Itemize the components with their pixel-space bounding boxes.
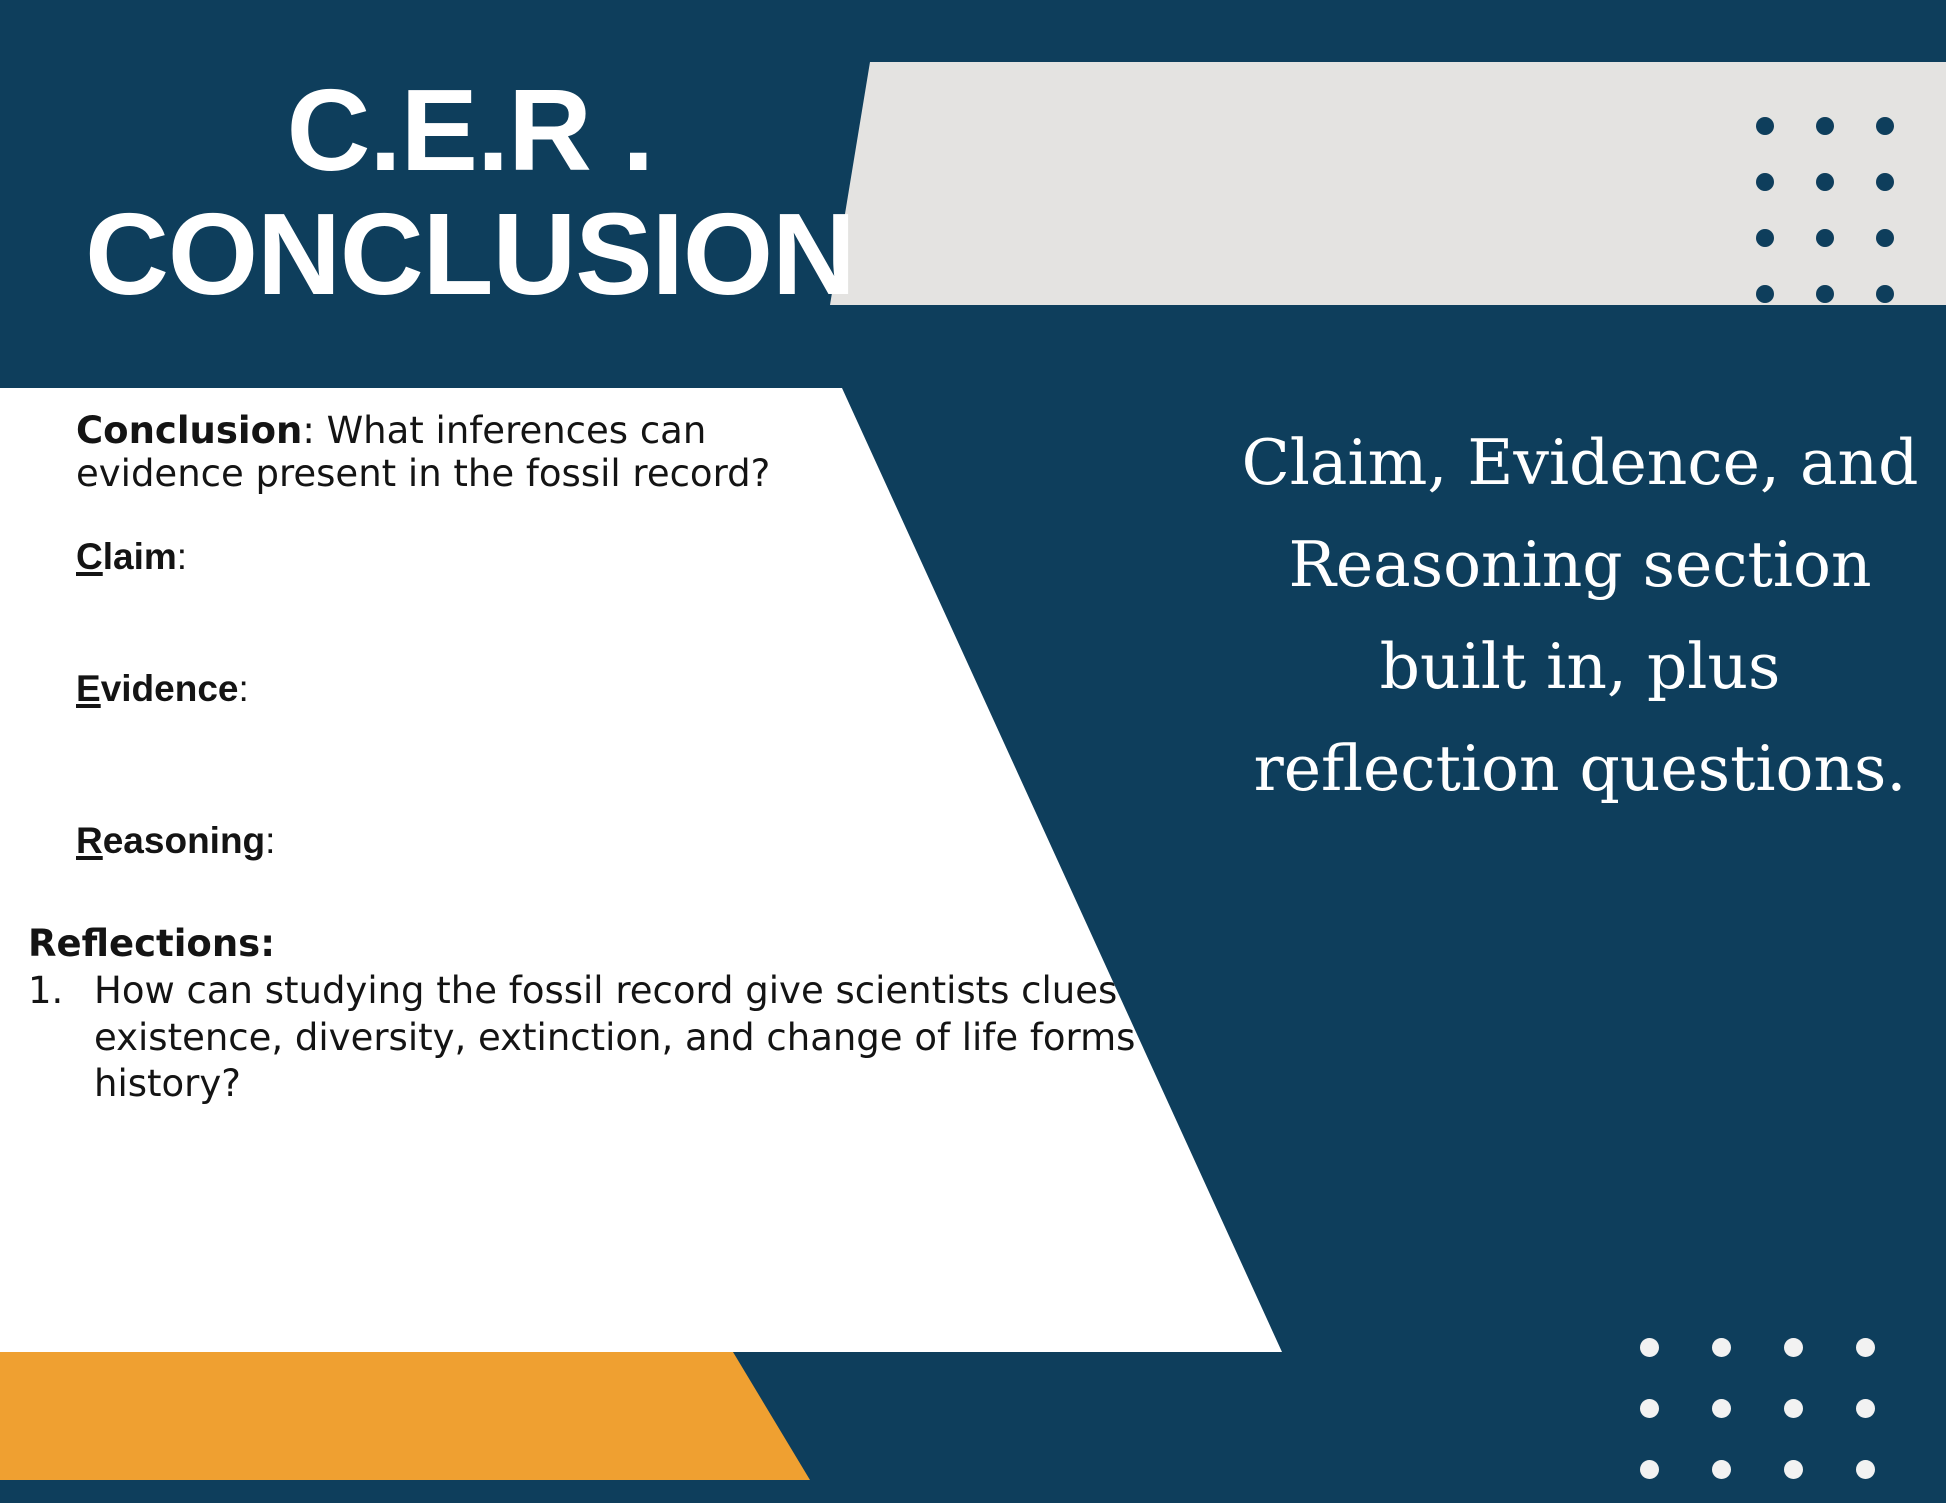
worksheet-reasoning-initial: R <box>76 820 103 861</box>
worksheet-conclusion-question-1: What inferences can <box>327 409 707 452</box>
dot <box>1876 117 1894 135</box>
worksheet-reflection-text: How can studying the fossil record give … <box>94 968 1288 1108</box>
worksheet-evidence-colon: : <box>238 668 248 709</box>
worksheet-evidence-rest: vidence <box>101 668 239 709</box>
worksheet-evidence-initial: E <box>76 668 101 709</box>
dot <box>1816 285 1834 303</box>
dot <box>1856 1460 1875 1479</box>
dot <box>1712 1338 1731 1357</box>
worksheet-reasoning-colon: : <box>265 820 275 861</box>
dot <box>1756 117 1774 135</box>
slide-canvas: C.E.R . CONCLUSION Conclusion: What infe… <box>0 0 1946 1503</box>
dot-grid-top-right <box>1756 117 1936 341</box>
worksheet-reflection-item-1: 1. How can studying the fossil record gi… <box>28 968 1288 1108</box>
dot <box>1816 173 1834 191</box>
dot <box>1784 1460 1803 1479</box>
dot <box>1756 173 1774 191</box>
dot <box>1876 229 1894 247</box>
worksheet-claim-initial: C <box>76 536 103 577</box>
dot <box>1712 1460 1731 1479</box>
dot <box>1876 173 1894 191</box>
caption-text: Claim, Evidence, and Reasoning section b… <box>1235 412 1925 820</box>
orange-accent-bar <box>0 1352 810 1480</box>
dot <box>1784 1338 1803 1357</box>
worksheet-reasoning-label: Reasoning: <box>76 820 275 862</box>
dot-grid-bottom-right <box>1640 1338 1928 1503</box>
dot <box>1756 285 1774 303</box>
slide-title: C.E.R . CONCLUSION <box>0 72 940 312</box>
worksheet-reflection-number: 1. <box>28 968 94 1015</box>
worksheet-claim-rest: laim <box>103 536 177 577</box>
title-line-1: C.E.R . <box>0 72 940 188</box>
worksheet-claim-label: Claim: <box>76 536 187 578</box>
worksheet-conclusion-label: Conclusion <box>76 409 302 452</box>
title-line-2: CONCLUSION <box>0 196 940 312</box>
dot <box>1876 285 1894 303</box>
worksheet-evidence-label: Evidence: <box>76 668 249 710</box>
dot <box>1756 229 1774 247</box>
worksheet-conclusion-colon: : <box>302 409 326 452</box>
worksheet-conclusion-line-1: Conclusion: What inferences can <box>76 410 770 453</box>
worksheet-claim-colon: : <box>177 536 187 577</box>
dot <box>1784 1399 1803 1418</box>
worksheet-conclusion-block: Conclusion: What inferences can evidence… <box>76 410 770 496</box>
dot <box>1816 229 1834 247</box>
dot <box>1856 1338 1875 1357</box>
worksheet-conclusion-line-2: evidence present in the fossil record? <box>76 453 770 496</box>
dot <box>1856 1399 1875 1418</box>
dot <box>1640 1399 1659 1418</box>
dot <box>1816 117 1834 135</box>
dot <box>1640 1460 1659 1479</box>
worksheet-reflections-heading: Reflections: <box>28 922 275 965</box>
dot <box>1712 1399 1731 1418</box>
dot <box>1640 1338 1659 1357</box>
worksheet-reasoning-rest: easoning <box>103 820 265 861</box>
